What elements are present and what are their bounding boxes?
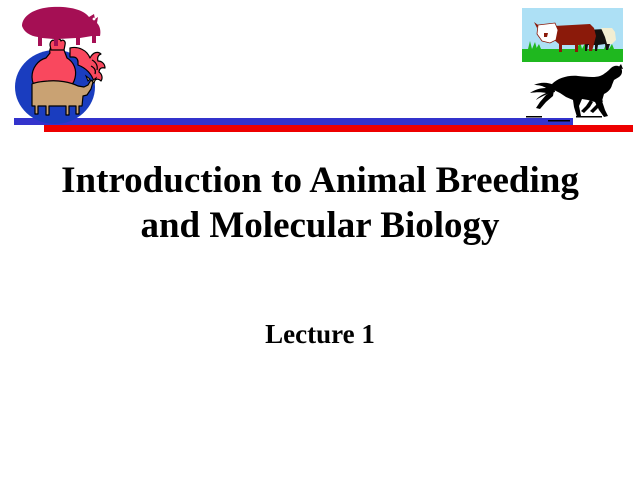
animal-science-logo xyxy=(8,2,118,124)
horse-icon xyxy=(530,64,623,117)
red-divider-rule xyxy=(44,125,633,132)
photo-grass xyxy=(522,49,623,62)
cattle-pasture-photo xyxy=(522,8,623,62)
dust-marks xyxy=(526,116,602,122)
title-slide: Introduction to Animal Breeding and Mole… xyxy=(0,0,640,480)
page-title: Introduction to Animal Breeding and Mole… xyxy=(0,158,640,248)
subtitle-text: Lecture 1 xyxy=(0,318,640,350)
title-line-1: Introduction to Animal Breeding xyxy=(0,158,640,203)
title-line-2: and Molecular Biology xyxy=(0,203,640,248)
slide-subtitle: Lecture 1 xyxy=(0,318,640,350)
galloping-horse-silhouette xyxy=(524,64,628,124)
